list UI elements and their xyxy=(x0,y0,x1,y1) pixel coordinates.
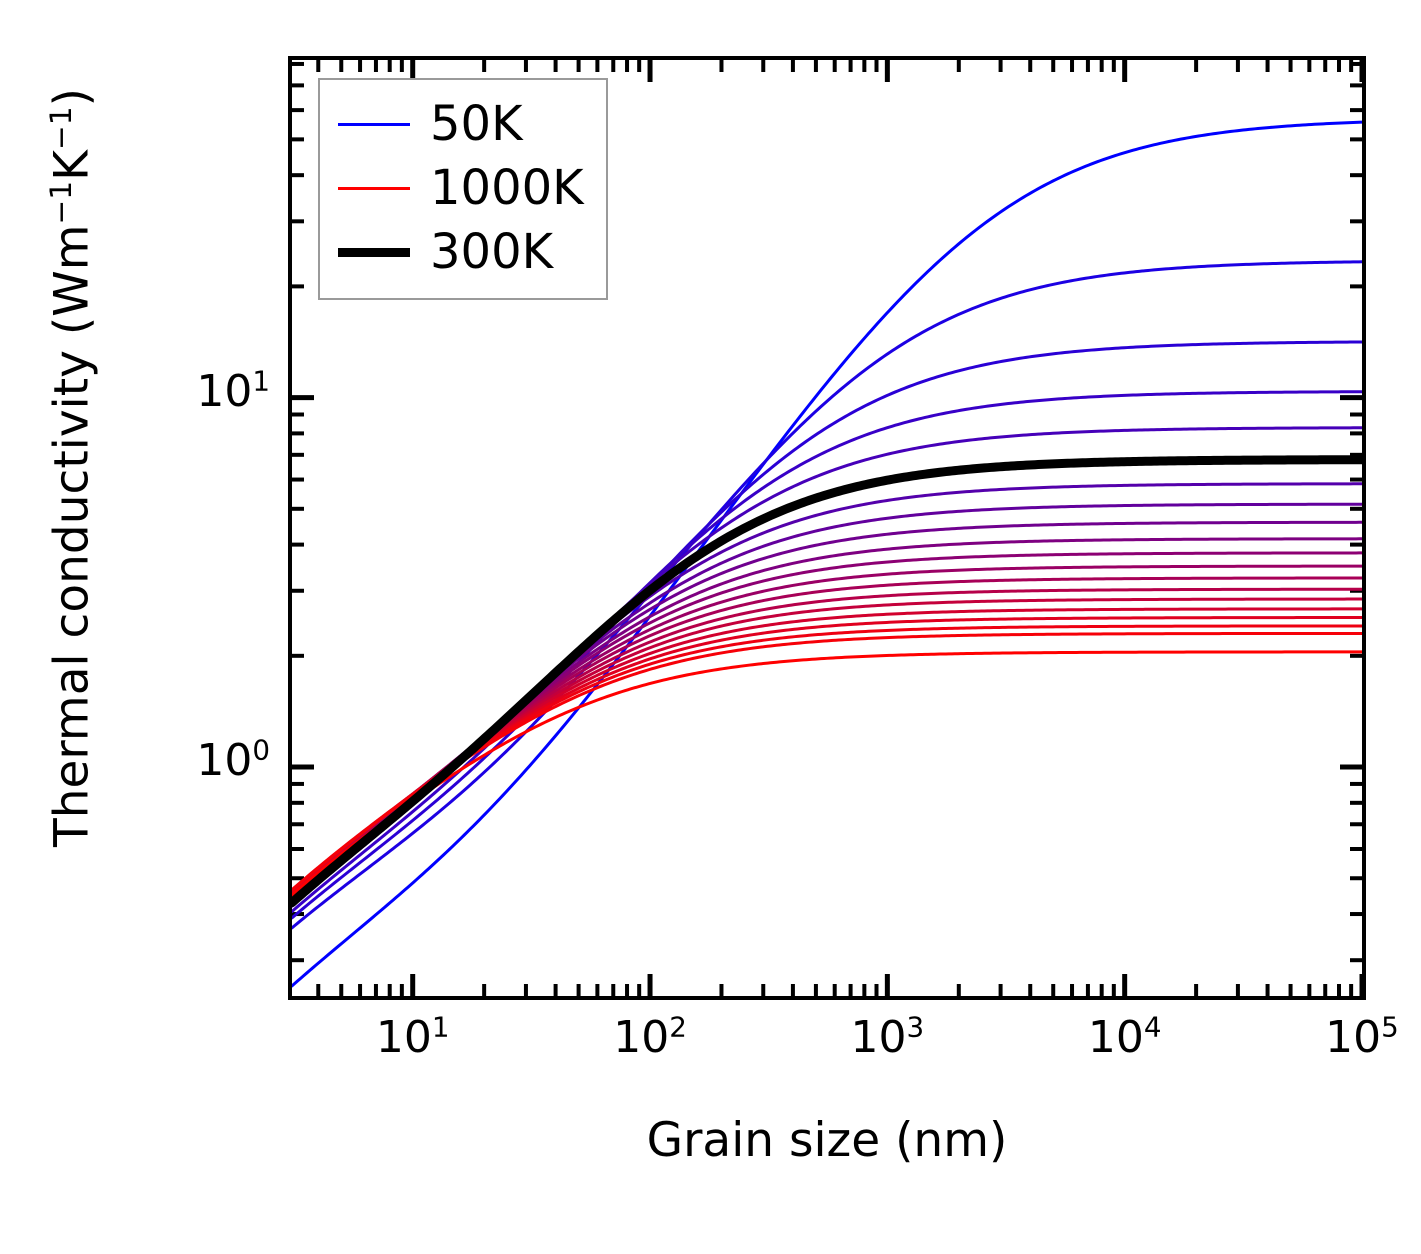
curve-300k xyxy=(292,460,1362,903)
y-axis-label-text: Thermal conductivity (Wm xyxy=(45,225,100,847)
curve-550k xyxy=(292,553,1362,895)
curve-100k xyxy=(292,262,1362,928)
x-axis-label: Grain size (nm) xyxy=(288,1113,1366,1168)
y-tick-label-0: 101 xyxy=(150,370,270,414)
legend-label-300k: 300K xyxy=(430,228,553,276)
x-tick-label-4: 105 xyxy=(1282,1016,1421,1060)
y-tick-exponent: 0 xyxy=(252,733,270,766)
y-axis-label-mid: K xyxy=(45,150,100,181)
curve-900k xyxy=(292,626,1362,890)
x-tick-mantissa: 10 xyxy=(1325,1012,1381,1063)
curve-400k xyxy=(292,504,1362,899)
legend-label-50k: 50K xyxy=(430,100,523,148)
x-tick-mantissa: 10 xyxy=(376,1012,432,1063)
curve-350k xyxy=(292,484,1362,901)
x-tick-exponent: 5 xyxy=(1381,1010,1399,1043)
x-tick-exponent: 4 xyxy=(1144,1010,1162,1043)
x-tick-mantissa: 10 xyxy=(851,1012,907,1063)
figure-canvas: Thermal conductivity (Wm−1K−1) 101100 10… xyxy=(0,0,1421,1254)
y-tick-label-group: 101100 xyxy=(140,0,270,1000)
curve-500k xyxy=(292,539,1362,896)
x-tick-label-0: 101 xyxy=(333,1016,493,1060)
x-tick-mantissa: 10 xyxy=(613,1012,669,1063)
x-tick-label-2: 103 xyxy=(807,1016,967,1060)
y-axis-label-end: ) xyxy=(45,88,100,106)
x-tick-exponent: 2 xyxy=(669,1010,687,1043)
legend: 50K1000K300K xyxy=(318,78,608,300)
x-tick-exponent: 1 xyxy=(432,1010,450,1043)
legend-swatch-50k xyxy=(338,123,410,126)
y-tick-label-1: 100 xyxy=(150,739,270,783)
x-tick-label-3: 104 xyxy=(1045,1016,1205,1060)
y-tick-exponent: 1 xyxy=(252,364,270,397)
y-tick-mantissa: 10 xyxy=(196,735,252,786)
x-tick-label-1: 102 xyxy=(570,1016,730,1060)
x-tick-exponent: 3 xyxy=(907,1010,925,1043)
y-axis-label-sup-m: −1 xyxy=(44,181,78,225)
legend-item-1000k[interactable]: 1000K xyxy=(338,156,584,220)
x-tick-mantissa: 10 xyxy=(1088,1012,1144,1063)
legend-swatch-1000k xyxy=(338,187,410,190)
legend-label-1000k: 1000K xyxy=(430,164,584,212)
legend-item-50k[interactable]: 50K xyxy=(338,92,584,156)
y-axis-label-sup-k: −1 xyxy=(44,106,78,150)
curve-250k xyxy=(292,428,1362,906)
y-axis-label: Thermal conductivity (Wm−1K−1) xyxy=(45,0,100,943)
legend-swatch-300k xyxy=(338,248,410,257)
legend-item-300k[interactable]: 300K xyxy=(338,220,584,284)
y-tick-mantissa: 10 xyxy=(196,366,252,417)
curve-1000k xyxy=(292,652,1362,895)
